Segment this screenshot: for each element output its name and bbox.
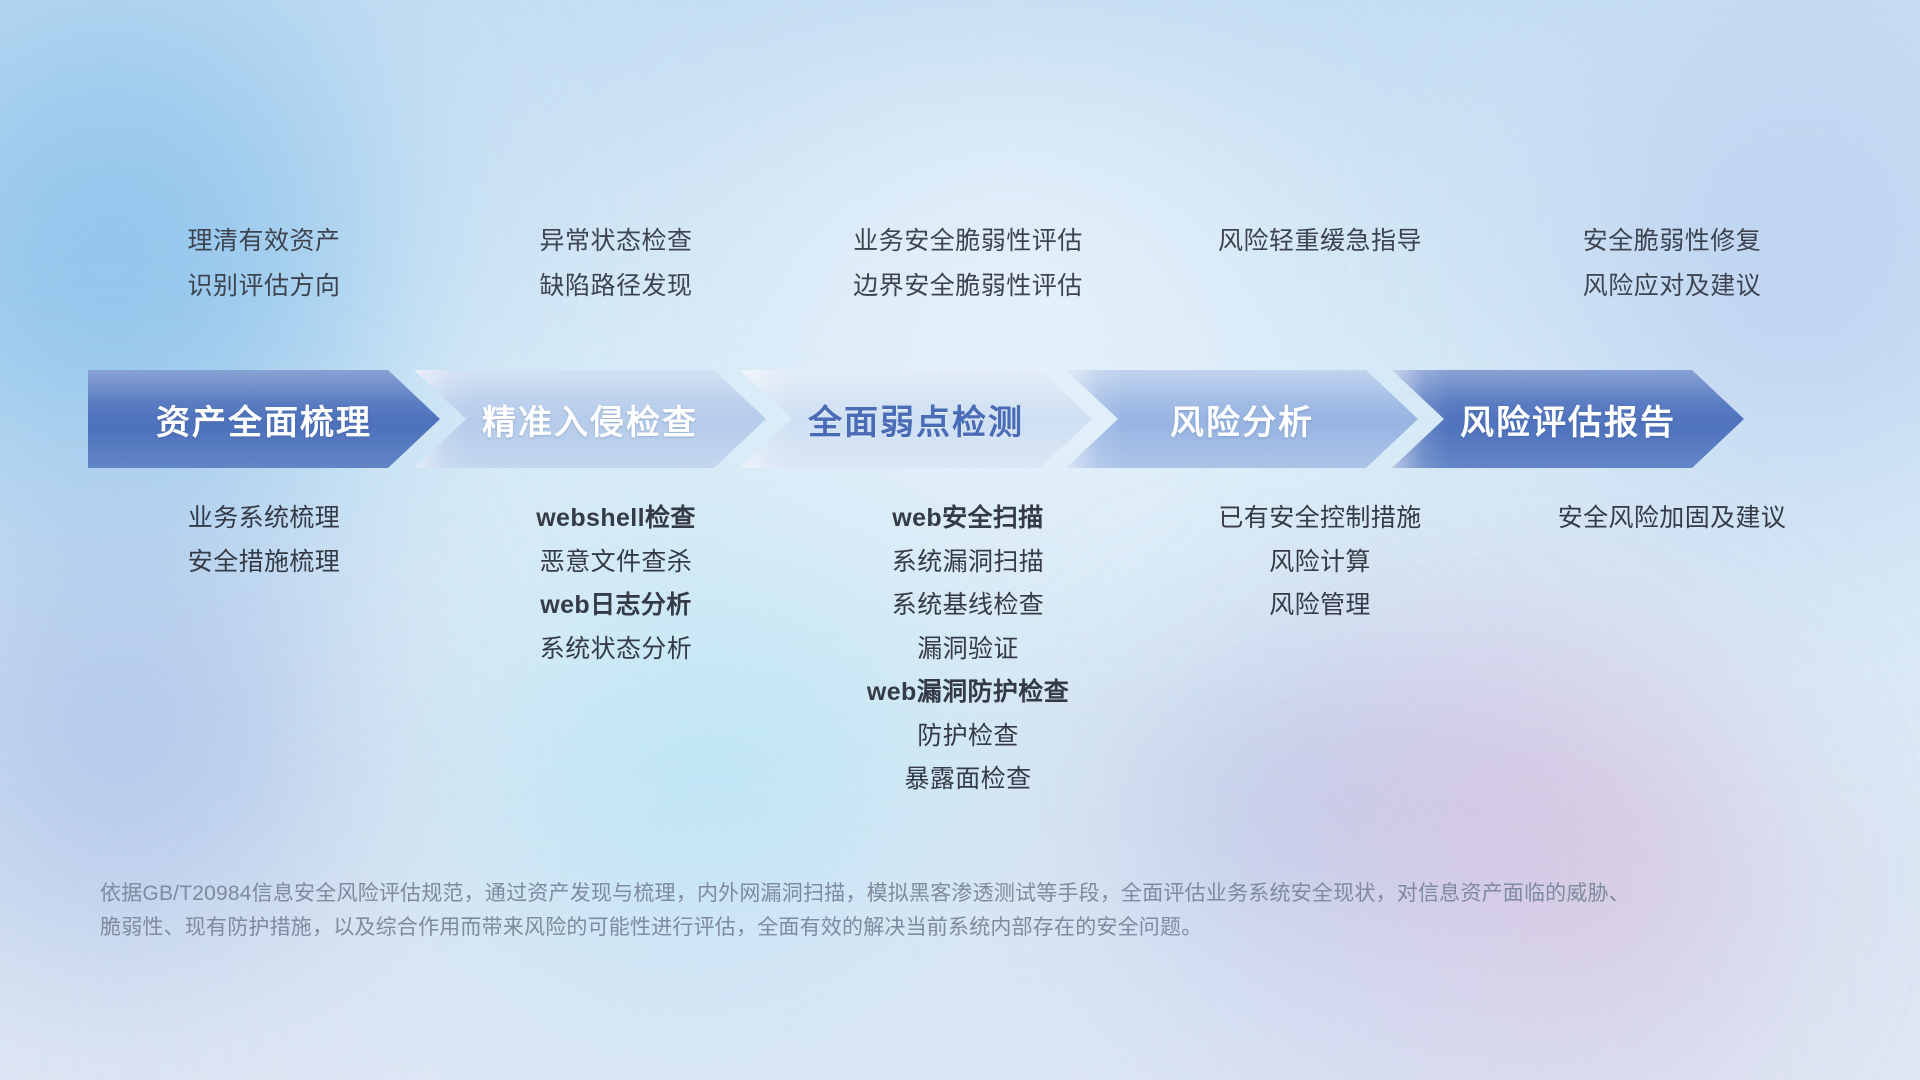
detail-item: 恶意文件查杀 [540, 549, 692, 577]
detail-item: 防护检查 [917, 723, 1019, 751]
bottom-details-weakness-detection: web安全扫描 系统漏洞扫描 系统基线检查 漏洞验证 web漏洞防护检查 防护检… [792, 505, 1144, 794]
top-descriptors-weakness-detection: 业务安全脆弱性评估 边界安全脆弱性评估 [792, 228, 1144, 348]
detail-item: 安全风险加固及建议 [1558, 505, 1787, 533]
bottom-details-asset-inventory: 业务系统梳理 安全措施梳理 [88, 505, 440, 576]
bottom-details-risk-analysis: 已有安全控制措施 风险计算 风险管理 [1144, 505, 1496, 620]
top-descriptor-line: 风险轻重缓急指导 [1218, 228, 1422, 256]
detail-item: 暴露面检查 [904, 766, 1031, 794]
bottom-details-assessment-report: 安全风险加固及建议 [1496, 505, 1848, 533]
chevron-label: 风险评估报告 [1460, 395, 1676, 444]
chevron-label: 风险分析 [1170, 395, 1314, 444]
chevron-label: 全面弱点检测 [808, 395, 1024, 444]
detail-item: 漏洞验证 [917, 636, 1019, 664]
detail-item: 已有安全控制措施 [1218, 505, 1421, 533]
bottom-details-intrusion-check: webshell检查 恶意文件查杀 web日志分析 系统状态分析 [440, 505, 792, 663]
chevron-label: 精准入侵检查 [482, 395, 698, 444]
bottom-detail-row: 业务系统梳理 安全措施梳理 webshell检查 恶意文件查杀 web日志分析 … [88, 505, 1848, 794]
chevron-stage-intrusion-check[interactable]: 精准入侵检查 [414, 370, 766, 468]
detail-item: 业务系统梳理 [188, 505, 340, 533]
top-descriptor-line: 异常状态检查 [539, 228, 692, 256]
top-descriptors-risk-analysis: 风险轻重缓急指导 [1144, 228, 1496, 348]
detail-item: 系统基线检查 [892, 592, 1044, 620]
chevron-stage-assessment-report[interactable]: 风险评估报告 [1392, 370, 1744, 468]
detail-item: 风险管理 [1269, 592, 1371, 620]
detail-item: 系统漏洞扫描 [892, 549, 1044, 577]
top-descriptor-line: 业务安全脆弱性评估 [853, 228, 1083, 256]
top-descriptor-line: 缺陷路径发现 [539, 273, 692, 301]
top-descriptor-line: 边界安全脆弱性评估 [853, 273, 1083, 301]
top-descriptor-row: 理清有效资产 识别评估方向 异常状态检查 缺陷路径发现 业务安全脆弱性评估 边界… [88, 228, 1848, 348]
detail-item: web漏洞防护检查 [867, 679, 1069, 707]
process-diagram: 理清有效资产 识别评估方向 异常状态检查 缺陷路径发现 业务安全脆弱性评估 边界… [0, 0, 1920, 1080]
top-descriptor-line: 安全脆弱性修复 [1583, 228, 1762, 256]
top-descriptor-line: 风险应对及建议 [1583, 273, 1762, 301]
top-descriptor-line: 理清有效资产 [187, 228, 340, 256]
chevron-process-band: 资产全面梳理 精准入侵检查 全面弱点检测 风险分析 风险评估报告 [88, 370, 1848, 468]
top-descriptors-assessment-report: 安全脆弱性修复 风险应对及建议 [1496, 228, 1848, 348]
footer-description: 依据GB/T20984信息安全风险评估规范，通过资产发现与梳理，内外网漏洞扫描，… [100, 877, 1630, 945]
chevron-stage-weakness-detection[interactable]: 全面弱点检测 [740, 370, 1092, 468]
detail-item: web日志分析 [540, 592, 691, 620]
top-descriptor-line: 识别评估方向 [187, 273, 340, 301]
top-descriptors-intrusion-check: 异常状态检查 缺陷路径发现 [440, 228, 792, 348]
detail-item: 风险计算 [1269, 549, 1371, 577]
chevron-stage-asset-inventory[interactable]: 资产全面梳理 [88, 370, 440, 468]
chevron-label: 资产全面梳理 [156, 395, 372, 444]
detail-item: webshell检查 [536, 505, 696, 533]
top-descriptors-asset-inventory: 理清有效资产 识别评估方向 [88, 228, 440, 348]
detail-item: web安全扫描 [892, 505, 1043, 533]
detail-item: 安全措施梳理 [188, 549, 340, 577]
chevron-stage-risk-analysis[interactable]: 风险分析 [1066, 370, 1418, 468]
detail-item: 系统状态分析 [540, 636, 692, 664]
